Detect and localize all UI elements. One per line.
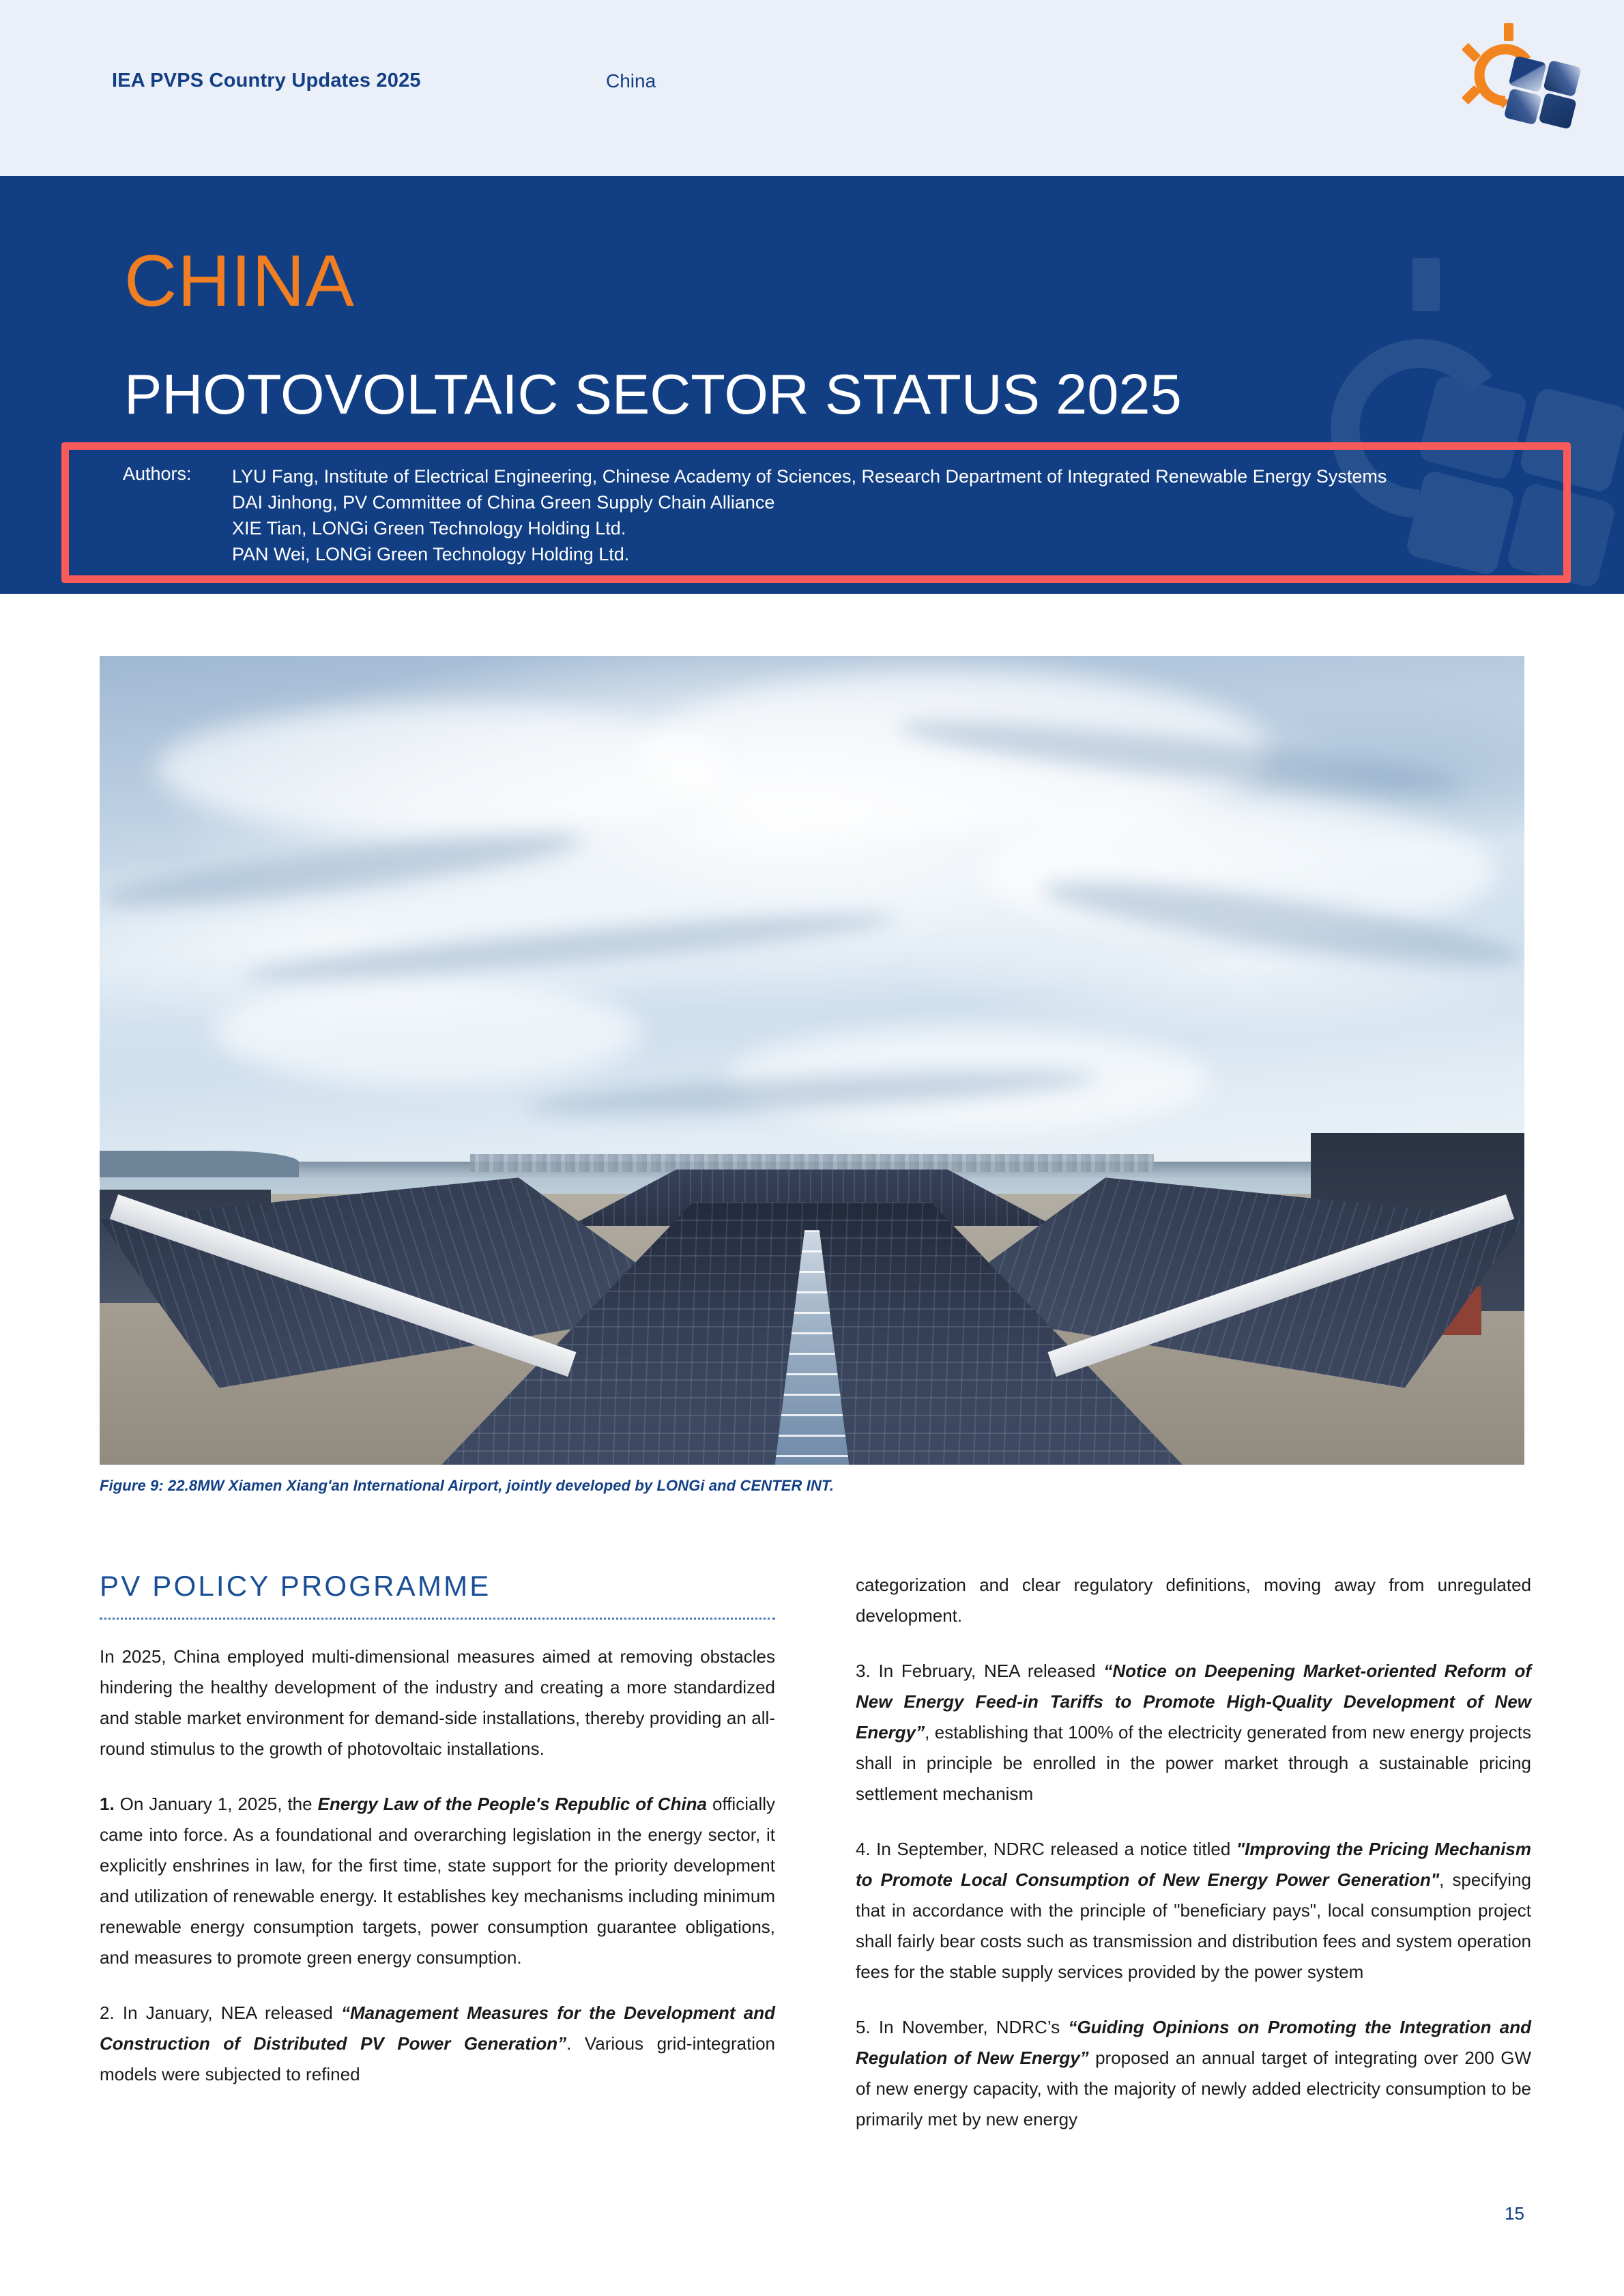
cloud bbox=[214, 979, 641, 1085]
airport-solar-roof-photo bbox=[100, 656, 1524, 1465]
authors-label: Authors: bbox=[123, 463, 192, 485]
section-title: PV POLICY PROGRAMME bbox=[100, 1570, 775, 1618]
cloud bbox=[157, 704, 727, 834]
iea-pvps-logo-icon bbox=[1444, 11, 1601, 162]
author-entry: PAN Wei, LONGi Green Technology Holding … bbox=[232, 541, 1528, 567]
header-report-title: IEA PVPS Country Updates 2025 bbox=[112, 70, 421, 92]
paragraph-item-5: 5. In November, NDRC’s “Guiding Opinions… bbox=[856, 2012, 1531, 2135]
left-column: PV POLICY PROGRAMME In 2025, China emplo… bbox=[100, 1570, 775, 2114]
author-entry: DAI Jinhong, PV Committee of China Green… bbox=[232, 489, 1528, 515]
section-title-divider bbox=[100, 1618, 775, 1620]
item-number: 1. bbox=[100, 1794, 115, 1814]
figure-image bbox=[100, 656, 1524, 1465]
header-country-label: China bbox=[606, 70, 656, 92]
document-page: IEA PVPS Country Updates 2025 China bbox=[0, 0, 1624, 2296]
item-lead: 3. In February, NEA released bbox=[856, 1661, 1103, 1681]
item-lead: 4. In September, NDRC released a notice … bbox=[856, 1839, 1236, 1859]
item-lead: On January 1, 2025, the bbox=[115, 1794, 318, 1814]
author-entry: LYU Fang, Institute of Electrical Engine… bbox=[232, 463, 1528, 489]
right-column: categorization and clear regulatory defi… bbox=[856, 1570, 1531, 2159]
item-rest: , establishing that 100% of the electric… bbox=[856, 1722, 1531, 1804]
hero-document-title: PHOTOVOLTAIC SECTOR STATUS 2025 bbox=[124, 366, 1182, 422]
paragraph-item-4: 4. In September, NDRC released a notice … bbox=[856, 1834, 1531, 1988]
hero-country-title: CHINA bbox=[124, 244, 355, 317]
authors-list: LYU Fang, Institute of Electrical Engine… bbox=[232, 463, 1528, 567]
author-entry: XIE Tian, LONGi Green Technology Holding… bbox=[232, 515, 1528, 541]
item-lead: 2. In January, NEA released bbox=[100, 2003, 341, 2023]
item-rest: officially came into force. As a foundat… bbox=[100, 1794, 775, 1968]
item-lead: 5. In November, NDRC’s bbox=[856, 2017, 1068, 2037]
distant-shoreline bbox=[470, 1154, 1154, 1172]
paragraph-intro: In 2025, China employed multi-dimensiona… bbox=[100, 1641, 775, 1764]
item-emphasis: Energy Law of the People's Republic of C… bbox=[318, 1794, 707, 1814]
page-header: IEA PVPS Country Updates 2025 China bbox=[0, 0, 1624, 176]
paragraph-item-2: 2. In January, NEA released “Management … bbox=[100, 1998, 775, 2090]
paragraph-item-3: 3. In February, NEA released “Notice on … bbox=[856, 1656, 1531, 1809]
figure-caption: Figure 9: 22.8MW Xiamen Xiang'an Interna… bbox=[100, 1477, 834, 1495]
paragraph-item-1: 1. On January 1, 2025, the Energy Law of… bbox=[100, 1789, 775, 1973]
page-number: 15 bbox=[1505, 2203, 1524, 2224]
paragraph-continuation: categorization and clear regulatory defi… bbox=[856, 1570, 1531, 1631]
distant-hill bbox=[100, 1151, 299, 1180]
